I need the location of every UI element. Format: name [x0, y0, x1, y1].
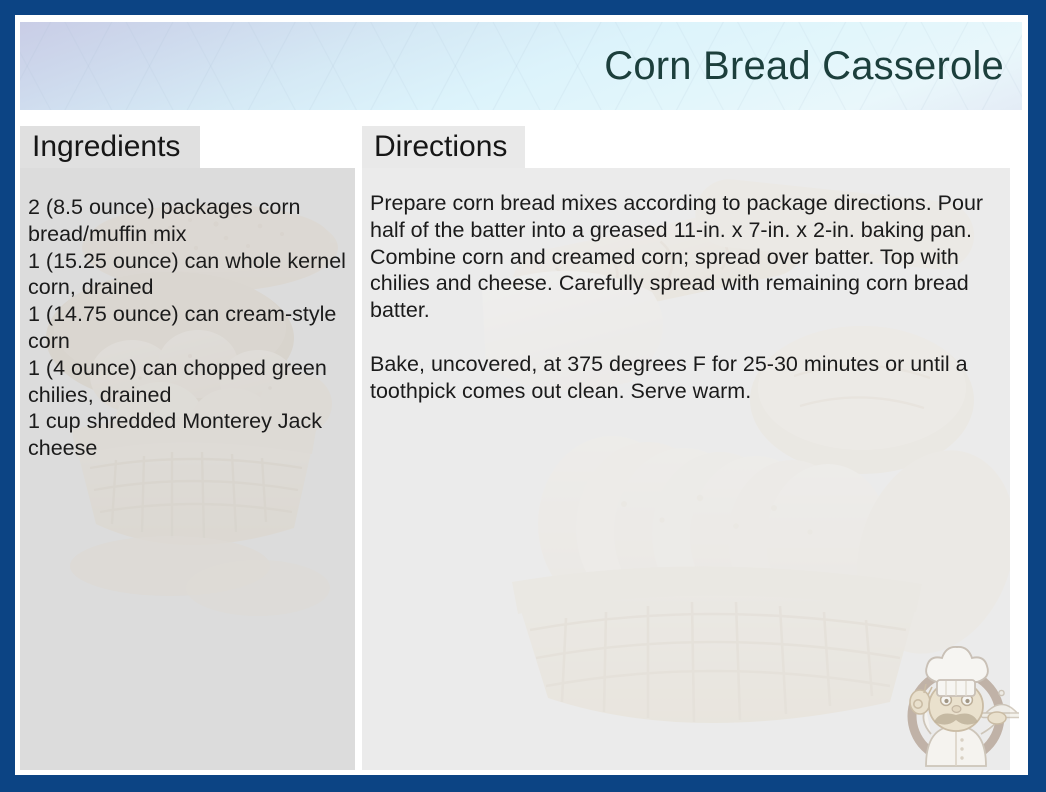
tab-ingredients-label: Ingredients: [32, 132, 180, 162]
slide-border-right: [1028, 0, 1046, 792]
slide-border-bottom: [0, 775, 1046, 792]
chef-mascot-logo: [893, 638, 1019, 768]
slide-border-top: [0, 0, 1046, 15]
tab-ingredients: Ingredients: [20, 126, 200, 168]
ingredients-list: 2 (8.5 ounce) packages corn bread/muffin…: [28, 194, 348, 462]
title-banner: Corn Bread Casserole: [20, 22, 1022, 110]
slide-border-left: [0, 0, 15, 792]
page-title: Corn Bread Casserole: [604, 46, 1004, 86]
recipe-slide: Corn Bread Casserole Ingredients Directi…: [0, 0, 1046, 792]
ingredients-panel: 2 (8.5 ounce) packages corn bread/muffin…: [20, 168, 355, 770]
directions-text: Prepare corn bread mixes according to pa…: [370, 190, 998, 404]
tab-directions-label: Directions: [374, 132, 507, 162]
tab-directions: Directions: [362, 126, 525, 168]
